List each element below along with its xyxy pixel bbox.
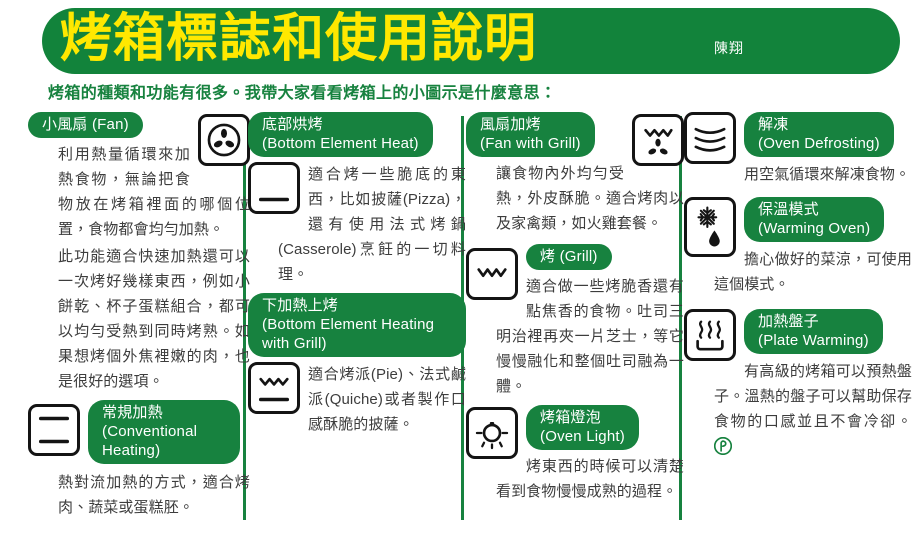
entry-paragraph: 熱對流加熱的方式，適合烤肉、蔬菜或蛋糕胚。 bbox=[28, 470, 250, 520]
pill-label-en: (Bottom Element Heat) bbox=[262, 134, 419, 153]
entry-bottom-element-with-grill: 下加熱上烤 (Bottom Element Heating with Grill… bbox=[248, 293, 466, 437]
pill-fan-with-grill: 風扇加烤 (Fan with Grill) bbox=[466, 112, 595, 157]
pill-plate-warming: 加熱盤子 (Plate Warming) bbox=[744, 309, 883, 354]
pill-label-zh: 小風扇 bbox=[42, 116, 88, 133]
entry-oven-light: 烤箱燈泡 (Oven Light) 烤東西的時候可以清楚看到食物慢慢成熟的過程。 bbox=[466, 405, 684, 504]
pill-label-zh: 解凍 bbox=[758, 115, 880, 134]
entry-paragraph: 讓食物內外均勻受熱，外皮酥脆。適合烤肉以及家禽類，如火雞套餐。 bbox=[466, 161, 684, 236]
entry-paragraph: 有高級的烤箱可以預熱盤子。溫熱的盤子可以幫助保存食物的口感並且不會冷卻。 bbox=[684, 359, 912, 459]
entry-fan: 小風扇 (Fan) 利用熱量循環來加熱食物，無論把食物放在烤箱裡面的哪個位置，食… bbox=[28, 112, 250, 242]
entry-warming-oven: 保溫模式 (Warming Oven) bbox=[684, 197, 912, 297]
oven-light-icon bbox=[466, 407, 518, 459]
plate-warming-icon bbox=[684, 309, 736, 361]
pill-grill: 烤 (Grill) bbox=[526, 244, 612, 270]
pill-defrost: 解凍 (Oven Defrosting) bbox=[744, 112, 894, 157]
column-2: 底部烘烤 (Bottom Element Heat) 適合烤一些脆底的東西，比如… bbox=[248, 112, 466, 437]
pill-label-en: (Fan with Grill) bbox=[480, 134, 581, 153]
column-4: 解凍 (Oven Defrosting) 用空氣循環來解凍食物。 保溫模式 (W… bbox=[684, 112, 912, 459]
bottom-element-heat-icon bbox=[248, 162, 300, 214]
pill-label-en: (Oven Defrosting) bbox=[758, 134, 880, 153]
entry-plate-warming: 加熱盤子 (Plate Warming) 有高級的烤箱可以預熱盤子。溫熱的盤子可… bbox=[684, 309, 912, 459]
pill-label-en: (Oven Light) bbox=[540, 427, 625, 446]
header-banner: 烤箱標誌和使用說明 陳翔 bbox=[42, 8, 900, 74]
entry-bottom-element-heat: 底部烘烤 (Bottom Element Heat) 適合烤一些脆底的東西，比如… bbox=[248, 112, 466, 287]
pill-label-en: (Fan) bbox=[92, 116, 129, 133]
pill-label-zh: 風扇加烤 bbox=[480, 115, 581, 134]
pill-label-zh: 底部烘烤 bbox=[262, 115, 419, 134]
pill-label-zh: 保溫模式 bbox=[758, 200, 870, 219]
column-1: 小風扇 (Fan) 利用熱量循環來加熱食物，無論把食物放在烤箱裡面的哪個位置，食… bbox=[28, 112, 250, 520]
conventional-heating-icon bbox=[28, 404, 80, 456]
brand-logo-icon bbox=[714, 437, 732, 455]
pill-label-zh: 烤 bbox=[540, 248, 555, 265]
bottom-element-with-grill-icon bbox=[248, 362, 300, 414]
warming-oven-icon bbox=[684, 197, 736, 257]
entry-defrost: 解凍 (Oven Defrosting) 用空氣循環來解凍食物。 bbox=[684, 112, 912, 187]
fan-with-grill-icon bbox=[632, 114, 684, 166]
pill-label-zh: 常規加熱 bbox=[102, 403, 226, 422]
pill-fan: 小風扇 (Fan) bbox=[28, 112, 143, 138]
pill-label-zh: 加熱盤子 bbox=[758, 312, 869, 331]
entry-grill: 烤 (Grill) 適合做一些烤脆香還有點焦香的食物。吐司三明治裡再夾一片芝士，… bbox=[466, 244, 684, 399]
pill-label-en: (Conventional Heating) bbox=[102, 422, 226, 460]
author-name: 陳翔 bbox=[714, 38, 744, 58]
fan-icon bbox=[198, 114, 250, 166]
grill-icon bbox=[466, 248, 518, 300]
entry-paragraph: 此功能適合快速加熱還可以一次烤好幾樣東西，例如小餅乾、杯子蛋糕組合，都可以均勻受… bbox=[28, 244, 250, 394]
defrost-icon bbox=[684, 112, 736, 164]
entry-conventional-heating: 常規加熱 (Conventional Heating) 熱對流加熱的方式，適合烤… bbox=[28, 400, 250, 520]
pill-oven-light: 烤箱燈泡 (Oven Light) bbox=[526, 405, 639, 450]
pill-label-en: (Bottom Element Heating with Grill) bbox=[262, 315, 452, 353]
pill-conventional-heating: 常規加熱 (Conventional Heating) bbox=[88, 400, 240, 464]
pill-label-zh: 下加熱上烤 bbox=[262, 296, 452, 315]
entry-paragraph-text: 有高級的烤箱可以預熱盤子。溫熱的盤子可以幫助保存食物的口感並且不會冷卻。 bbox=[714, 363, 912, 430]
pill-label-en: (Plate Warming) bbox=[758, 331, 869, 350]
pill-label-zh: 烤箱燈泡 bbox=[540, 408, 625, 427]
subtitle: 烤箱的種類和功能有很多。我帶大家看看烤箱上的小圖示是什麼意思： bbox=[48, 79, 556, 103]
page-title: 烤箱標誌和使用說明 bbox=[60, 4, 537, 74]
entry-paragraph: 用空氣循環來解凍食物。 bbox=[684, 162, 912, 187]
pill-warming-oven: 保溫模式 (Warming Oven) bbox=[744, 197, 884, 242]
entry-paragraph: 烤東西的時候可以清楚看到食物慢慢成熟的過程。 bbox=[466, 454, 684, 504]
entry-fan-with-grill: 風扇加烤 (Fan with Grill) 讓食物內外均勻受熱，外皮酥脆。適合烤… bbox=[466, 112, 684, 236]
column-3: 風扇加烤 (Fan with Grill) 讓食物內外均勻受熱，外皮酥脆。適合烤… bbox=[466, 112, 684, 504]
content-columns: 小風扇 (Fan) 利用熱量循環來加熱食物，無論把食物放在烤箱裡面的哪個位置，食… bbox=[0, 112, 924, 536]
pill-label-en: (Warming Oven) bbox=[758, 219, 870, 238]
pill-bottom-element-with-grill: 下加熱上烤 (Bottom Element Heating with Grill… bbox=[248, 293, 466, 357]
pill-label-en: (Grill) bbox=[560, 248, 598, 265]
pill-bottom-element-heat: 底部烘烤 (Bottom Element Heat) bbox=[248, 112, 433, 157]
